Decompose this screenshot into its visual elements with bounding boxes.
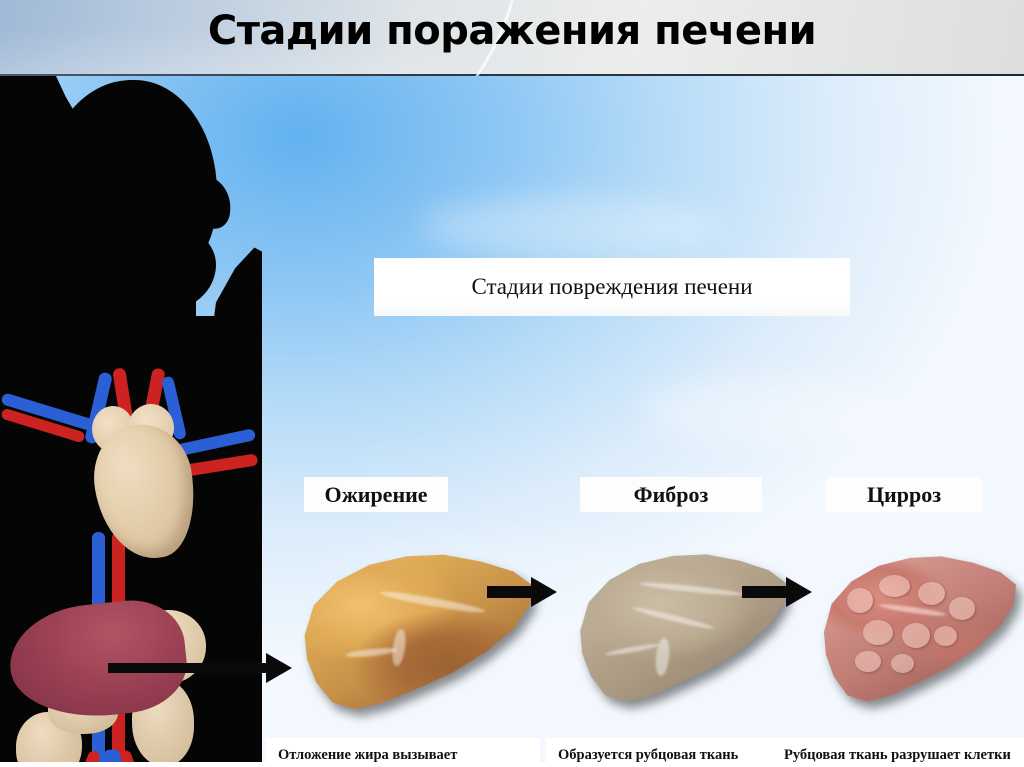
liver-specimen-obesity [300, 548, 532, 716]
diagram-subtitle: Стадии повреждения печени [374, 258, 850, 316]
stage-label-fibrosis: Фиброз [580, 477, 762, 512]
slide-bottom-margin [0, 762, 1024, 767]
stage-label-obesity: Ожирение [304, 477, 448, 512]
human-silhouette [0, 76, 262, 762]
cloud-wisp [640, 376, 900, 446]
stage-label-cirrhosis: Цирроз [826, 477, 982, 512]
liver-specimen-cirrhosis [820, 550, 1016, 708]
liver-specimen-fibrosis [576, 548, 786, 708]
slide: Стадии поражения печени [0, 0, 1024, 767]
page-title: Стадии поражения печени [0, 8, 1024, 54]
stage-caption-fibrosis: Образуется рубцовая ткань [546, 738, 780, 762]
stage-caption-cirrhosis: Рубцовая ткань разрушает клетки печени [772, 738, 1024, 762]
diagram-image: Стадии повреждения печени Ожирение Фибро… [0, 76, 1024, 762]
silhouette-nose [182, 174, 233, 231]
cloud-wisp [420, 196, 720, 256]
stage-caption-obesity: Отложение жира вызывает увеличение печен… [266, 738, 540, 762]
